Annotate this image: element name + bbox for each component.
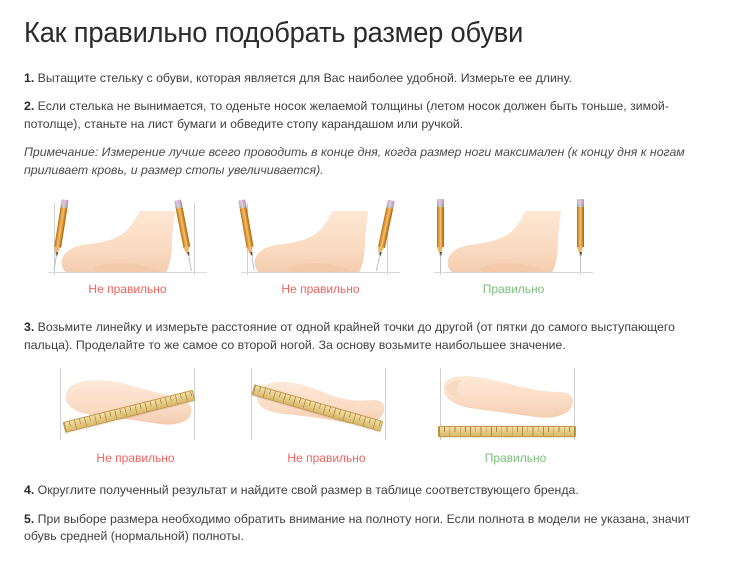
pencil-icon-left: [437, 199, 444, 261]
foot-side-illustration: [247, 211, 387, 273]
pencil-figure-1-art: [46, 195, 209, 273]
step-4-text: Округлите полученный результат и найдите…: [34, 483, 578, 497]
floor-baseline: [434, 272, 593, 273]
pencil-figure-3-art: [432, 195, 595, 273]
pencil-icon-right: [577, 199, 584, 261]
floor-baseline: [48, 272, 207, 273]
ruler-figure-1: Не правильно: [54, 368, 217, 468]
ruler-figure-3-art: [434, 368, 597, 442]
step-1-number: 1.: [24, 71, 34, 85]
step-5-text: При выборе размера необходимо обратить в…: [24, 512, 690, 543]
step-3-paragraph: 3. Возьмите линейку и измерьте расстояни…: [24, 319, 726, 354]
pencil-figure-3: Правильно: [432, 195, 595, 303]
ruler-figure-1-art: [54, 368, 217, 442]
step-2-text: Если стелька не вынимается, то оденьте н…: [24, 99, 669, 130]
step-1-paragraph: 1. Вытащите стельку с обуви, которая явл…: [24, 70, 726, 87]
step-4-number: 4.: [24, 483, 34, 497]
ruler-figure-2-caption: Не правильно: [245, 451, 408, 465]
pencil-figure-2: Не правильно: [239, 195, 402, 303]
ruler-figure-row: Не правильно: [24, 368, 730, 468]
instruction-page: Как правильно подобрать размер обуви 1. …: [0, 0, 750, 564]
step-2-number: 2.: [24, 99, 34, 113]
step-4-paragraph: 4. Округлите полученный результат и найд…: [24, 482, 726, 499]
step-3-text: Возьмите линейку и измерьте расстояние о…: [24, 320, 675, 351]
ruler-icon: [438, 426, 576, 437]
pencil-figure-2-art: [239, 195, 402, 273]
step-3-number: 3.: [24, 320, 34, 334]
step-5-number: 5.: [24, 512, 34, 526]
foot-side-illustration: [440, 211, 580, 273]
ruler-figure-3-caption: Правильно: [434, 451, 597, 465]
ruler-figure-1-caption: Не правильно: [54, 451, 217, 465]
step-1-text: Вытащите стельку с обуви, которая являет…: [34, 71, 572, 85]
foot-top-illustration: [440, 374, 576, 422]
ruler-figure-2: Не правильно: [245, 368, 408, 468]
ruler-figure-2-art: [245, 368, 408, 442]
step-5-paragraph: 5. При выборе размера необходимо обратит…: [24, 511, 726, 546]
page-title: Как правильно подобрать размер обуви: [24, 18, 684, 50]
pencil-figure-row: Не правильно: [24, 195, 730, 303]
pencil-figure-1: Не правильно: [46, 195, 209, 303]
pencil-figure-3-caption: Правильно: [432, 282, 595, 296]
pencil-figure-1-caption: Не правильно: [46, 282, 209, 296]
floor-baseline: [241, 272, 400, 273]
ruler-figure-3: Правильно: [434, 368, 597, 468]
pencil-figure-2-caption: Не правильно: [239, 282, 402, 296]
foot-side-illustration: [54, 211, 194, 273]
note-paragraph: Примечание: Измерение лучше всего провод…: [24, 144, 726, 179]
step-2-paragraph: 2. Если стелька не вынимается, то оденьт…: [24, 98, 726, 133]
